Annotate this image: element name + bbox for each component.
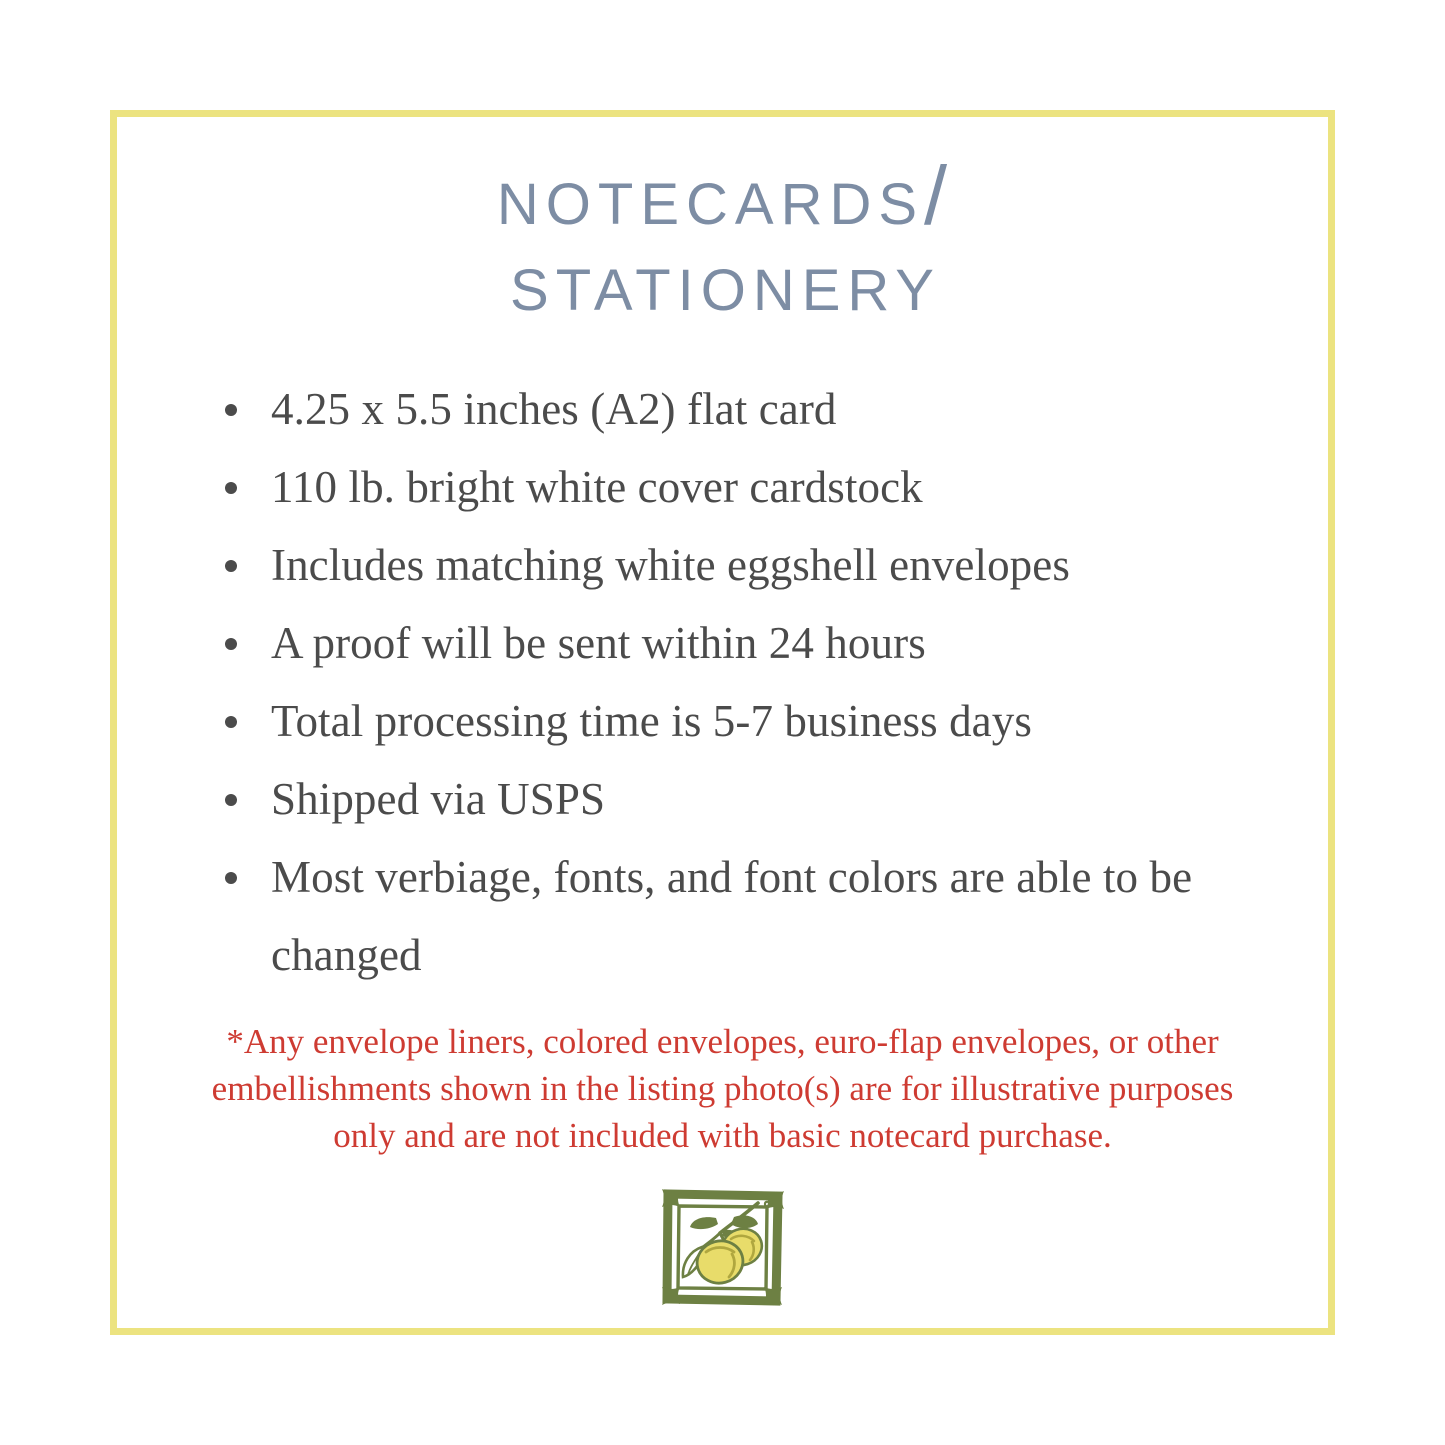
bullet-dot-icon <box>225 794 237 806</box>
lemon-branch-framed-logo-icon <box>658 1185 788 1309</box>
disclaimer-line-1: *Any envelope liners, colored envelopes,… <box>163 1018 1283 1065</box>
bullet-dot-icon <box>225 482 237 494</box>
disclaimer-line-3: only and are not included with basic not… <box>163 1112 1283 1159</box>
list-item-label: Shipped via USPS <box>271 774 605 824</box>
list-item-label: 4.25 x 5.5 inches (A2) flat card <box>271 384 837 434</box>
list-item: 110 lb. bright white cover cardstock <box>217 448 1306 526</box>
bullet-dot-icon <box>225 872 237 884</box>
list-item-label: Includes matching white eggshell envelop… <box>271 540 1070 590</box>
title-line-2: Stationery <box>145 239 1306 325</box>
list-item: 4.25 x 5.5 inches (A2) flat card <box>217 370 1306 448</box>
bullet-dot-icon <box>225 716 237 728</box>
bullet-dot-icon <box>225 404 237 416</box>
card-content: Notecards/ Stationery 4.25 x 5.5 inches … <box>117 117 1328 1328</box>
list-item-label: Total processing time is 5-7 business da… <box>271 696 1032 746</box>
product-details-list: 4.25 x 5.5 inches (A2) flat card 110 lb.… <box>139 370 1306 994</box>
title-line-1: Notecards/ <box>145 153 1306 239</box>
list-item: Shipped via USPS <box>217 760 1306 838</box>
list-item: A proof will be sent within 24 hours <box>217 604 1306 682</box>
product-info-card: Notecards/ Stationery 4.25 x 5.5 inches … <box>0 0 1445 1445</box>
list-item: Most verbiage, fonts, and font colors ar… <box>217 838 1306 994</box>
list-item: Includes matching white eggshell envelop… <box>217 526 1306 604</box>
page-title: Notecards/ Stationery <box>139 153 1306 326</box>
bullet-dot-icon <box>225 638 237 650</box>
bullet-dot-icon <box>225 560 237 572</box>
list-item-label: Most verbiage, fonts, and font colors ar… <box>271 852 1192 980</box>
list-item-label: A proof will be sent within 24 hours <box>271 618 926 668</box>
disclaimer-text: *Any envelope liners, colored envelopes,… <box>163 1018 1283 1159</box>
list-item: Total processing time is 5-7 business da… <box>217 682 1306 760</box>
list-item-label: 110 lb. bright white cover cardstock <box>271 462 923 512</box>
yellow-border-frame: Notecards/ Stationery 4.25 x 5.5 inches … <box>110 110 1335 1335</box>
disclaimer-line-2: embellishments shown in the listing phot… <box>163 1065 1283 1112</box>
